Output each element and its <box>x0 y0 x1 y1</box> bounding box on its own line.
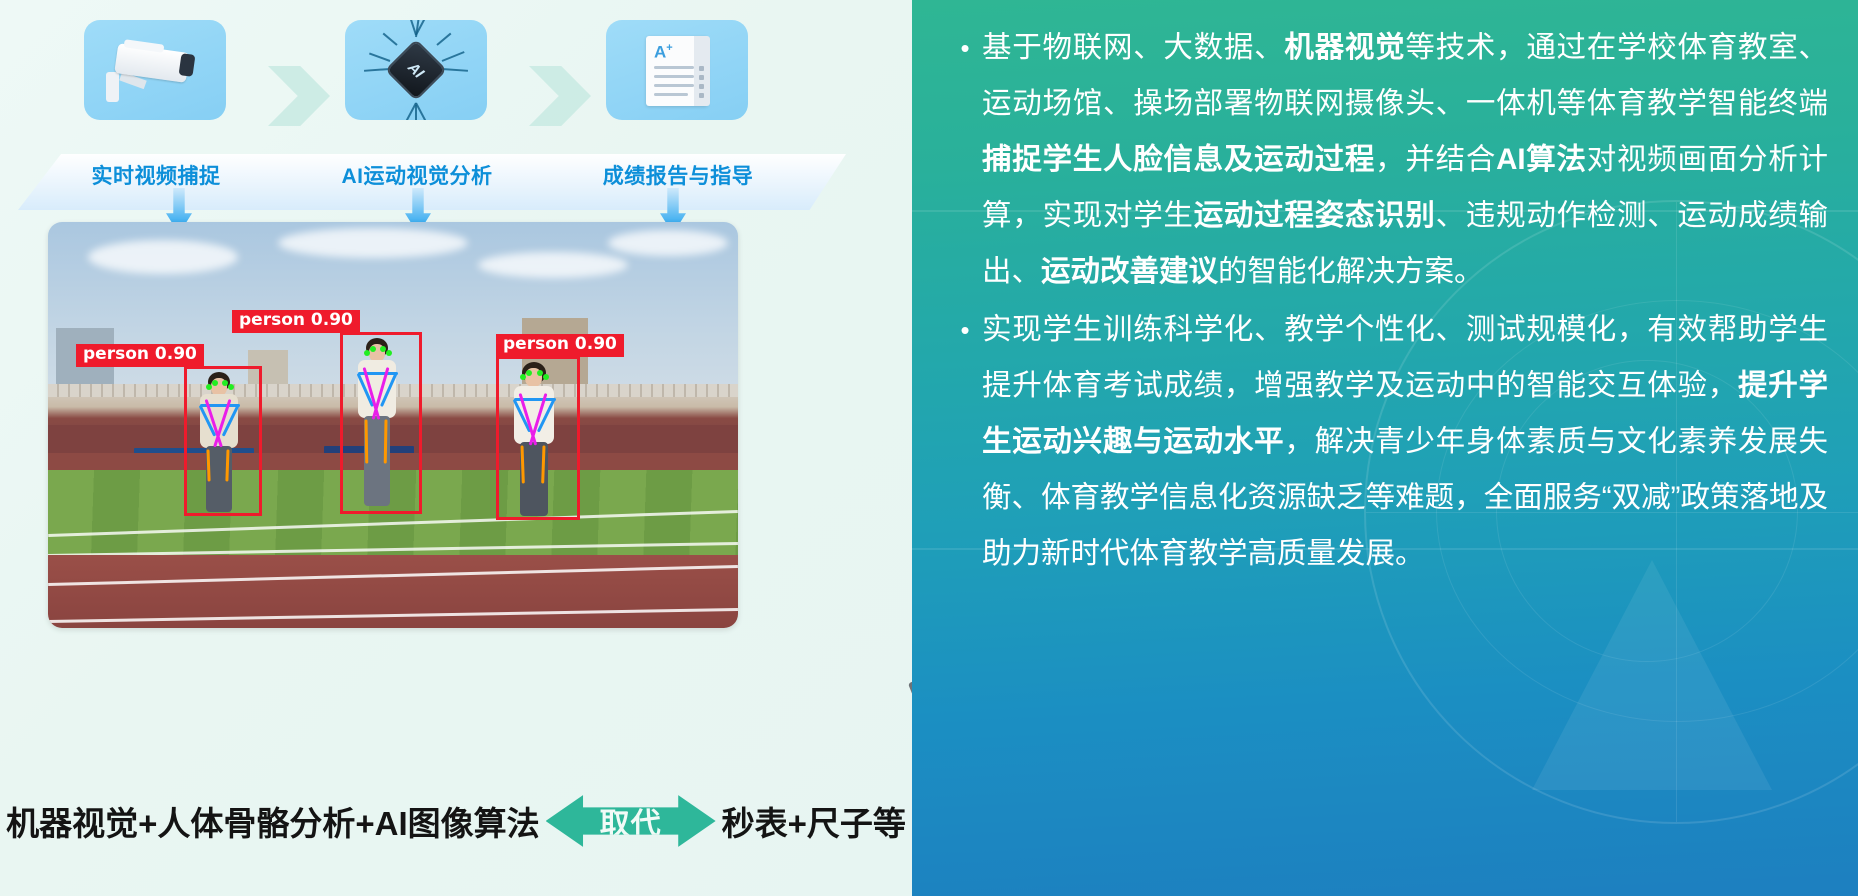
flow-step-3-label: 成绩报告与指导 <box>548 160 808 190</box>
bullet-text: 基于物联网、大数据、机器视觉等技术，通过在学校体育教室、运动场馆、操场部署物联网… <box>982 20 1828 300</box>
flow-step-2[interactable]: AI AI运动视觉分析 <box>345 20 487 120</box>
bullet-item-2: •实现学生训练科学化、教学个性化、测试规模化，有效帮助学生提升体育考试成绩，增强… <box>948 302 1828 582</box>
bbox-person-2 <box>340 332 422 514</box>
bullet-marker: • <box>948 20 982 76</box>
text-run-4: 捕捉学生人脸信息及 <box>982 143 1254 176</box>
flow-row: 实时视频捕捉 <box>0 20 912 160</box>
ai-chip-icon: AI <box>345 20 487 120</box>
left-panel: 实时视频捕捉 <box>0 0 912 896</box>
caption-right-text: 秒表+尺子等 <box>722 797 906 845</box>
bullet-list: •基于物联网、大数据、机器视觉等技术，通过在学校体育教室、运动场馆、操场部署物联… <box>948 20 1828 584</box>
flow-step-1[interactable]: 实时视频捕捉 <box>84 20 226 120</box>
text-run-11: 运动改善建议 <box>1041 255 1218 288</box>
triangle-decoration <box>1532 560 1772 790</box>
flow-step-1-label: 实时视频捕捉 <box>26 160 286 190</box>
cctv-camera-icon <box>84 20 226 120</box>
caption-left-text: 机器视觉+人体骨骼分析+AI图像算法 <box>6 797 540 845</box>
slide-root: 实时视频捕捉 <box>0 0 1858 896</box>
bbox-person-3 <box>496 356 580 520</box>
text-run-6: ，并结合 <box>1375 143 1496 176</box>
bullet-item-1: •基于物联网、大数据、机器视觉等技术，通过在学校体育教室、运动场馆、操场部署物联… <box>948 20 1828 300</box>
bottom-caption: 机器视觉+人体骨骼分析+AI图像算法 取代 秒表+尺子等 <box>0 788 912 854</box>
text-run-7: AI算法 <box>1496 143 1587 176</box>
right-panel: •基于物联网、大数据、机器视觉等技术，通过在学校体育教室、运动场馆、操场部署物联… <box>912 0 1858 896</box>
bullet-text: 实现学生训练科学化、教学个性化、测试规模化，有效帮助学生提升体育考试成绩，增强教… <box>982 302 1828 582</box>
bbox-person-1 <box>184 366 262 516</box>
playground-pose-detection-photo: person 0.90 person 0.90 <box>48 222 738 628</box>
detection-label-3: person 0.90 <box>496 334 624 357</box>
chevron-right-icon-2 <box>529 66 591 126</box>
bullet-marker: • <box>948 302 982 358</box>
detection-label-2: person 0.90 <box>232 310 360 333</box>
text-run-12: 的智能化解决方案。 <box>1218 255 1484 288</box>
flow-step-3[interactable]: A+ 成绩报告与指导 <box>606 20 748 120</box>
chevron-right-icon-1 <box>268 66 330 126</box>
replace-double-arrow-icon: 取代 <box>546 787 716 855</box>
text-run-5: 运动过程 <box>1254 143 1375 176</box>
text-run-1: 实现学生训练科学化、教学个性化、测试规模化，有效帮助学生提升体育考试成绩，增强教… <box>982 313 1828 402</box>
flow-step-2-label: AI运动视觉分析 <box>287 160 547 190</box>
report-card-icon: A+ <box>606 20 748 120</box>
text-run-2: 机器视觉 <box>1284 31 1405 64</box>
text-run-9: 运动过程姿态识别 <box>1194 199 1436 232</box>
replace-arrow-label: 取代 <box>600 799 662 843</box>
detection-label-1: person 0.90 <box>76 344 204 367</box>
text-run-1: 基于物联网、大数据、 <box>982 31 1284 64</box>
